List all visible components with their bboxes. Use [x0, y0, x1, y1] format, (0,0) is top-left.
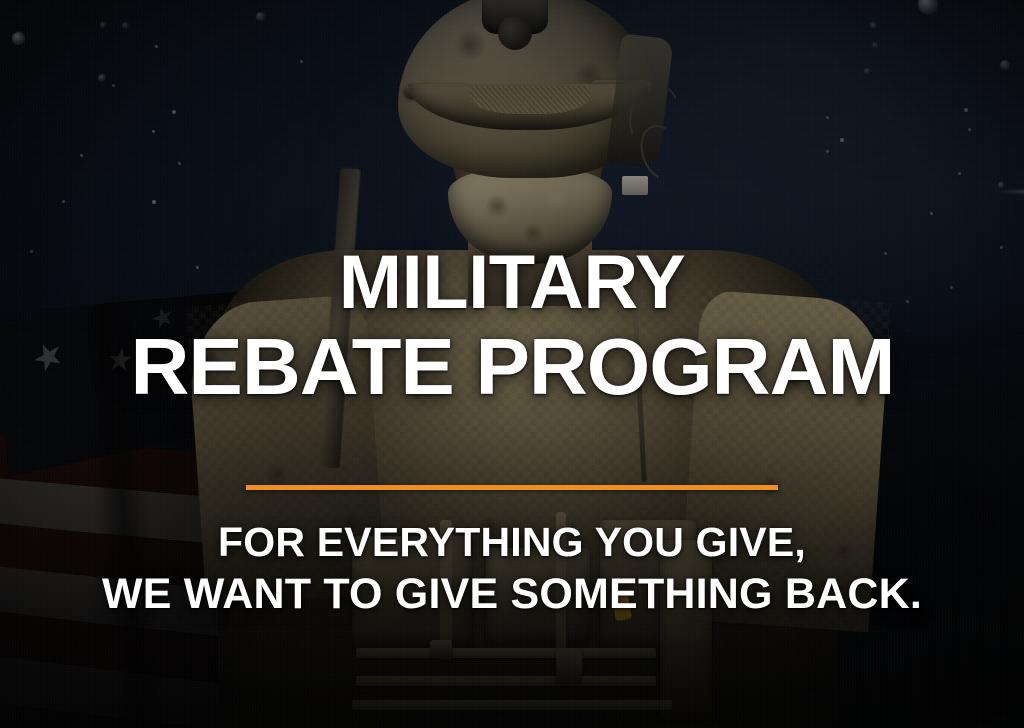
subtitle-line-2: WE WANT TO GIVE SOMETHING BACK. [102, 570, 922, 618]
subtitle-line-1: FOR EVERYTHING YOU GIVE, [218, 519, 806, 565]
headline-line-1: MILITARY [138, 247, 887, 319]
banner-content: MILITARY REBATE PROGRAM FOR EVERYTHING Y… [0, 0, 1024, 728]
subtitle: FOR EVERYTHING YOU GIVE, WE WANT TO GIVE… [102, 520, 922, 618]
headline-line-2: REBATE PROGRAM [130, 329, 894, 405]
military-rebate-banner: ★ ★ ★ ★ [0, 0, 1024, 728]
orange-divider [246, 485, 778, 490]
page-title: MILITARY REBATE PROGRAM [138, 51, 887, 405]
